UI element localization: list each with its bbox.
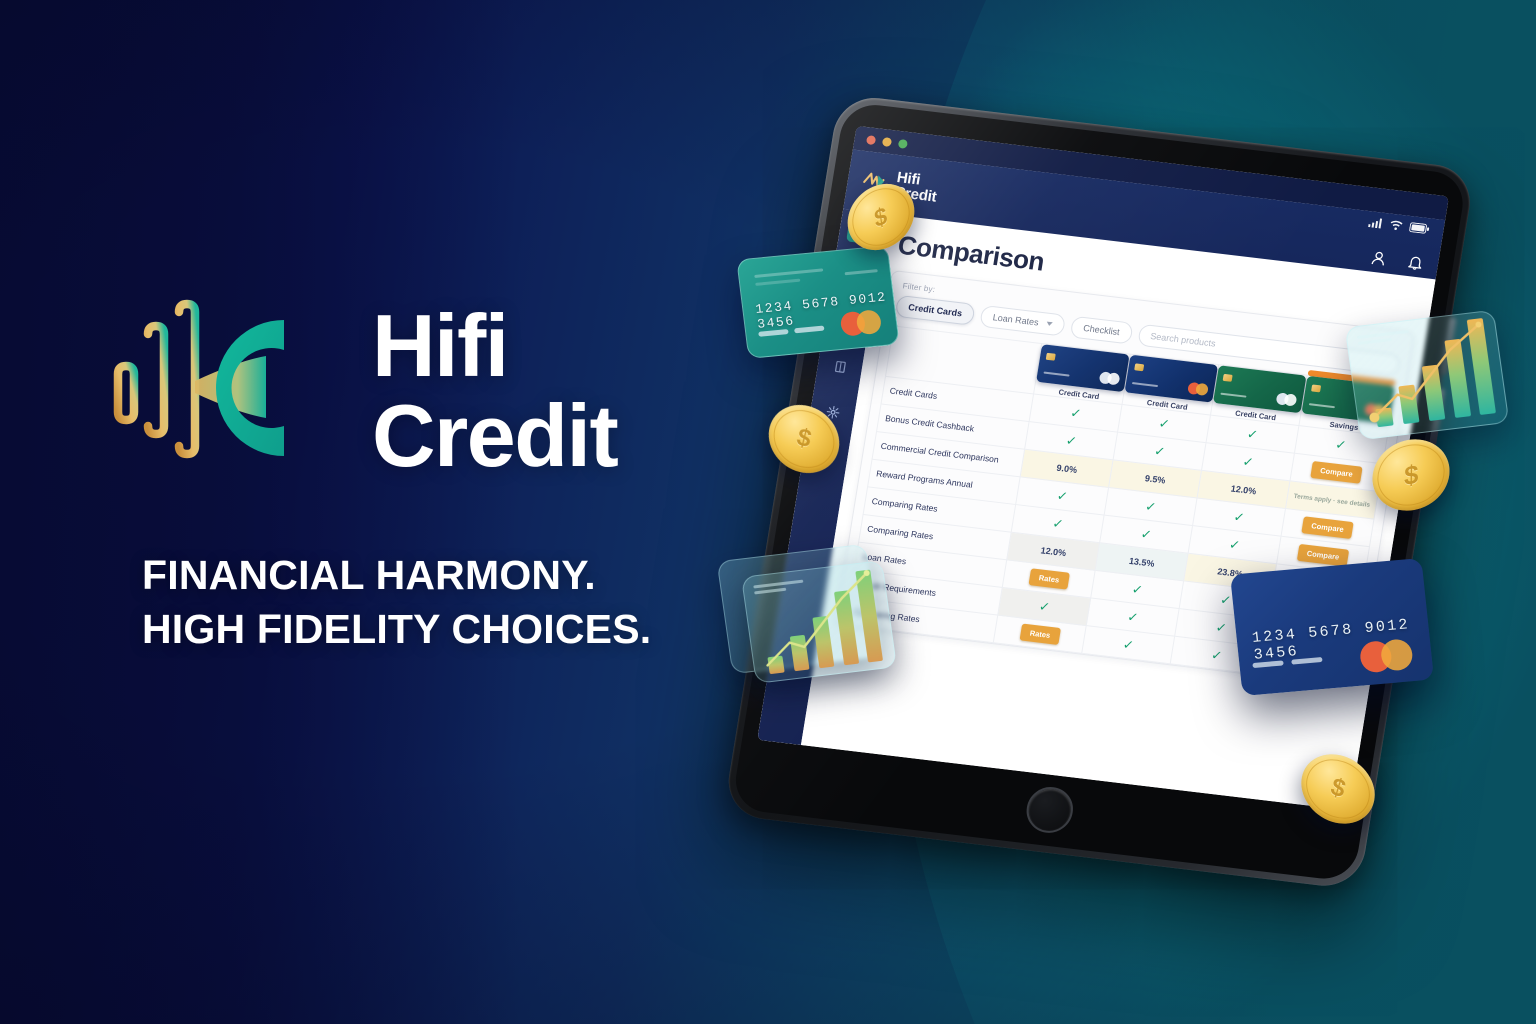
filter-chip-checklist[interactable]: Checklist bbox=[1070, 316, 1134, 345]
signal-icon bbox=[1368, 217, 1384, 229]
tagline: FINANCIAL HARMONY. HIGH FIDELITY CHOICES… bbox=[142, 548, 736, 656]
check-icon: ✓ bbox=[1126, 609, 1139, 625]
compare-button[interactable]: Compare bbox=[1297, 544, 1350, 567]
sidebar-item-reports[interactable] bbox=[824, 352, 856, 381]
check-icon: ✓ bbox=[1215, 620, 1228, 636]
notification-icon[interactable] bbox=[1406, 253, 1426, 272]
card-chip-icon bbox=[1223, 374, 1233, 382]
coin-symbol: $ bbox=[873, 201, 889, 233]
account-icon[interactable] bbox=[1369, 249, 1389, 268]
card-chip-icon bbox=[1134, 363, 1144, 371]
check-icon: ✓ bbox=[1210, 647, 1223, 663]
filter-chip-label: Checklist bbox=[1083, 323, 1121, 337]
wifi-icon bbox=[1389, 220, 1404, 231]
mastercard-icon bbox=[1359, 638, 1414, 673]
filter-chip-credit-cards[interactable]: Credit Cards bbox=[895, 295, 976, 326]
card-stripe bbox=[1044, 371, 1070, 377]
bar-chart-icon bbox=[742, 561, 896, 683]
growth-chart-widget-right bbox=[1345, 310, 1510, 441]
filter-select-loan-rates[interactable]: Loan Rates bbox=[979, 305, 1066, 337]
bar-chart-icon bbox=[1346, 311, 1509, 439]
compare-button[interactable]: Compare bbox=[1310, 461, 1363, 484]
rates-button[interactable]: Rates bbox=[1029, 568, 1070, 589]
hero-banner: Hifi Credit FINANCIAL HARMONY. HIGH FIDE… bbox=[0, 0, 1536, 1024]
status-icons bbox=[1368, 217, 1430, 234]
card-network-icon bbox=[1099, 371, 1121, 385]
app-header-actions bbox=[1369, 249, 1425, 272]
check-icon: ✓ bbox=[1153, 443, 1166, 459]
brand-block: Hifi Credit FINANCIAL HARMONY. HIGH FIDE… bbox=[96, 286, 736, 656]
check-icon: ✓ bbox=[1140, 526, 1153, 542]
brand-name-line1: Hifi bbox=[372, 303, 617, 389]
check-icon: ✓ bbox=[1131, 581, 1144, 597]
growth-chart-widget-left bbox=[741, 560, 897, 684]
check-icon: ✓ bbox=[1228, 537, 1241, 553]
check-icon: ✓ bbox=[1069, 405, 1082, 421]
check-icon: ✓ bbox=[1241, 454, 1254, 470]
card-stripe bbox=[1221, 392, 1247, 398]
card-network-icon bbox=[1276, 392, 1298, 406]
reports-icon bbox=[831, 358, 848, 375]
card-chip-icon bbox=[1311, 384, 1321, 392]
check-icon: ✓ bbox=[1122, 637, 1135, 653]
filter-select-label: Loan Rates bbox=[992, 312, 1039, 327]
coin-symbol: $ bbox=[794, 424, 814, 455]
close-icon[interactable] bbox=[866, 135, 876, 145]
check-icon: ✓ bbox=[1158, 416, 1171, 432]
tagline-line2: HIGH FIDELITY CHOICES. bbox=[142, 602, 736, 656]
floating-card-teal: 1234 5678 9012 3456 bbox=[736, 245, 900, 359]
coin-symbol: $ bbox=[1327, 773, 1348, 804]
card-network-icon bbox=[1187, 382, 1209, 396]
check-icon: ✓ bbox=[1233, 509, 1246, 525]
rates-button[interactable]: Rates bbox=[1020, 624, 1061, 645]
card-chip-icon bbox=[1046, 353, 1056, 361]
waveform-c-logo-icon bbox=[96, 286, 354, 496]
check-icon: ✓ bbox=[1056, 488, 1069, 504]
check-icon: ✓ bbox=[1038, 599, 1051, 615]
minimize-icon[interactable] bbox=[882, 137, 892, 147]
card-thumbnail bbox=[1036, 344, 1129, 392]
search-placeholder: Search products bbox=[1150, 331, 1217, 349]
card-stripe bbox=[1309, 403, 1335, 409]
card-thumbnail bbox=[1125, 355, 1218, 403]
brand-name-line2: Credit bbox=[372, 393, 617, 479]
tagline-line1: FINANCIAL HARMONY. bbox=[142, 548, 736, 602]
chevron-down-icon bbox=[1046, 322, 1053, 327]
maximize-icon[interactable] bbox=[898, 138, 908, 148]
check-icon: ✓ bbox=[1219, 592, 1232, 608]
card-stripe bbox=[1132, 382, 1158, 388]
card-thumbnail bbox=[1213, 365, 1306, 413]
check-icon: ✓ bbox=[1065, 433, 1078, 449]
check-icon: ✓ bbox=[1246, 426, 1259, 442]
coin-symbol: $ bbox=[1404, 458, 1419, 492]
app-content: Comparison Filter by: Credit Cards Loan … bbox=[801, 214, 1436, 810]
check-icon: ✓ bbox=[1144, 498, 1157, 514]
mastercard-icon bbox=[840, 309, 883, 337]
cell-note: Terms apply · see details bbox=[1293, 493, 1370, 509]
filter-chip-label: Credit Cards bbox=[908, 302, 963, 318]
tablet-device: Hifi Credit bbox=[697, 82, 1519, 945]
battery-icon bbox=[1409, 222, 1430, 234]
floating-card-navy: 1234 5678 9012 3456 bbox=[1230, 558, 1434, 696]
compare-button[interactable]: Compare bbox=[1301, 516, 1354, 539]
brand-wordmark: Hifi Credit bbox=[372, 303, 617, 479]
check-icon: ✓ bbox=[1051, 516, 1064, 532]
check-icon: ✓ bbox=[1334, 437, 1347, 453]
